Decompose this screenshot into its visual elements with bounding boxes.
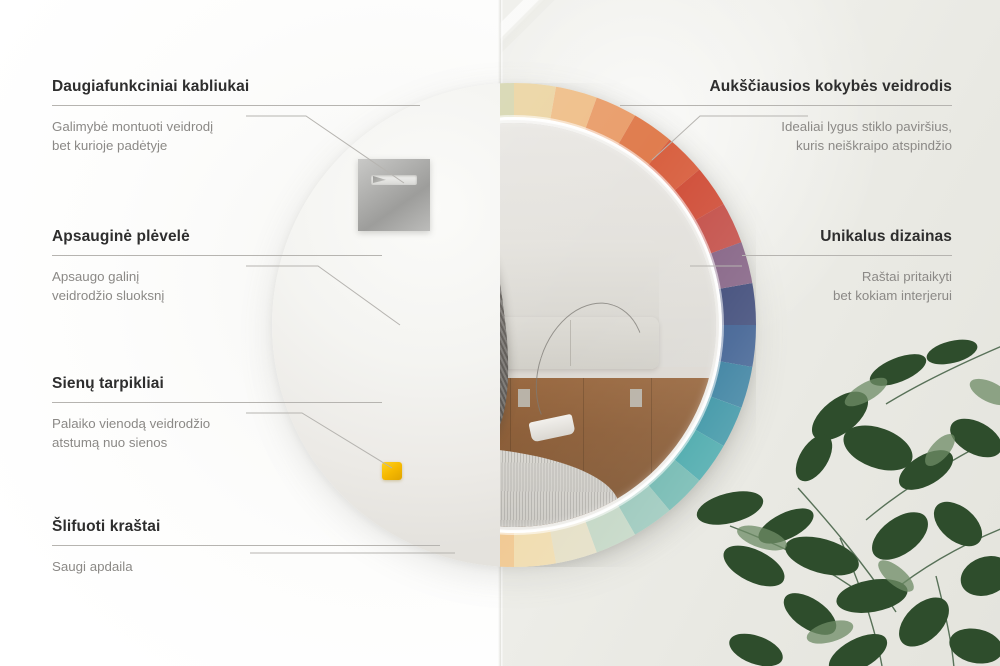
callout-title: Unikalus dizainas [742,228,952,246]
callout-rule [52,545,440,546]
callout-top-quality-mirror: Aukščiausios kokybės veidrodis Idealiai … [620,78,952,156]
callout-title: Sienų tarpikliai [52,375,382,393]
callout-hooks: Daugiafunkciniai kabliukai Galimybė mont… [52,78,420,156]
callout-title: Šlifuoti kraštai [52,518,440,536]
yellow-wall-spacer [382,462,402,480]
callout-rule [620,105,952,106]
callout-unique-design: Unikalus dizainas Raštai pritaikyti bet … [742,228,952,306]
callout-description: Idealiai lygus stiklo paviršius, kuris n… [620,117,952,156]
callout-rule [52,402,382,403]
callout-protective-film: Apsauginė plėvelė Apsaugo galinį veidrod… [52,228,382,306]
callout-description: Apsaugo galinį veidrodžio sluoksnį [52,267,382,306]
callout-title: Aukščiausios kokybės veidrodis [620,78,952,96]
callout-description: Saugi apdaila [52,557,440,576]
callout-rule [52,255,382,256]
callout-description: Galimybė montuoti veidrodį bet kurioje p… [52,117,420,156]
callout-ground-edges: Šlifuoti kraštai Saugi apdaila [52,518,440,576]
callout-description: Raštai pritaikyti bet kokiam interjerui [742,267,952,306]
mounting-hook-plate [358,159,430,231]
callout-rule [742,255,952,256]
callout-rule [52,105,420,106]
callout-title: Apsauginė plėvelė [52,228,382,246]
callout-wall-spacers: Sienų tarpikliai Palaiko vienodą veidrod… [52,375,382,453]
hook-slot [371,175,417,185]
callout-description: Palaiko vienodą veidrodžio atstumą nuo s… [52,414,382,453]
infographic-canvas: Daugiafunkciniai kabliukai Galimybė mont… [0,0,1000,666]
callout-title: Daugiafunkciniai kabliukai [52,78,420,96]
